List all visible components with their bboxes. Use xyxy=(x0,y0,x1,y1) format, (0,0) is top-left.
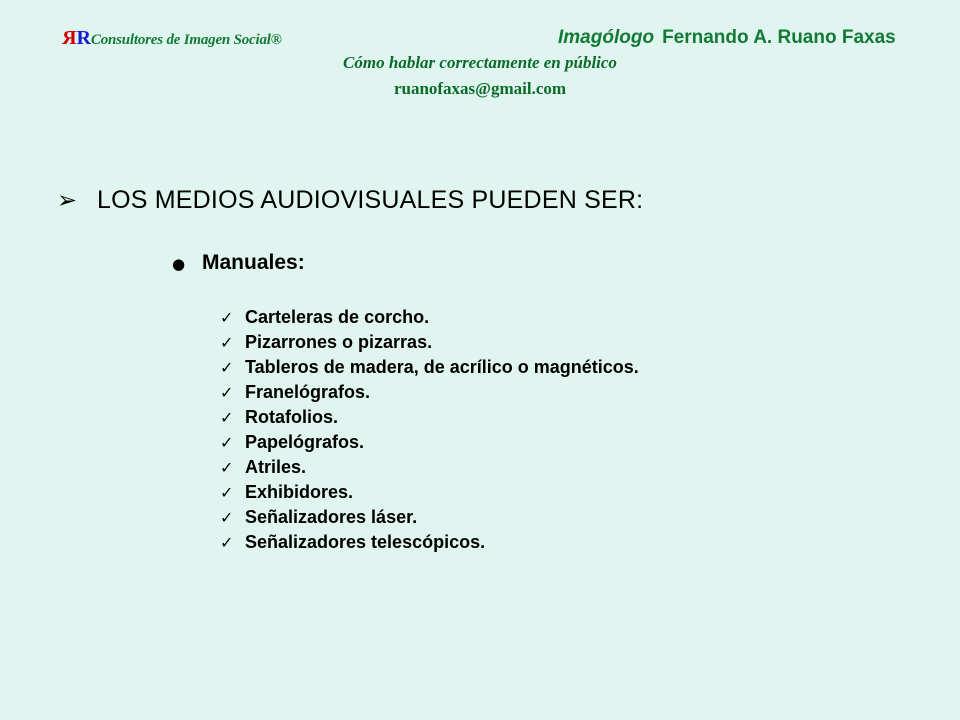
brand-mirrored-r-icon: R xyxy=(62,28,76,48)
check-icon: ✓ xyxy=(220,435,245,451)
list-item: ✓ Pizarrones o pizarras. xyxy=(220,333,639,358)
check-icon: ✓ xyxy=(220,335,245,351)
header-subtitle: Cómo hablar correctamente en público xyxy=(0,54,960,71)
audiovisual-media-list: ✓ Carteleras de corcho. ✓ Pizarrones o p… xyxy=(220,308,639,558)
main-heading-label: LOS MEDIOS AUDIOVISUALES PUEDEN SER: xyxy=(97,188,643,213)
sub-heading: ● Manuales: xyxy=(172,252,305,273)
slide: RRConsultores de Imagen Social® Imagólog… xyxy=(0,0,960,720)
list-item-label: Tableros de madera, de acrílico o magnét… xyxy=(245,358,639,376)
list-item: ✓ Tableros de madera, de acrílico o magn… xyxy=(220,358,639,383)
list-item: ✓ Señalizadores telescópicos. xyxy=(220,533,639,558)
list-item-label: Franelógrafos. xyxy=(245,383,370,401)
round-bullet-icon: ● xyxy=(172,257,202,272)
list-item-label: Carteleras de corcho. xyxy=(245,308,429,326)
list-item-label: Pizarrones o pizarras. xyxy=(245,333,432,351)
arrow-bullet-icon: ➢ xyxy=(57,188,97,212)
header-email: ruanofaxas@gmail.com xyxy=(0,80,960,97)
slide-header: RRConsultores de Imagen Social® Imagólog… xyxy=(0,0,960,110)
list-item: ✓ Exhibidores. xyxy=(220,483,639,508)
check-icon: ✓ xyxy=(220,460,245,476)
list-item: ✓ Papelógrafos. xyxy=(220,433,639,458)
brand-r-icon: R xyxy=(76,28,90,48)
check-icon: ✓ xyxy=(220,410,245,426)
list-item-label: Señalizadores láser. xyxy=(245,508,417,526)
main-heading: ➢ LOS MEDIOS AUDIOVISUALES PUEDEN SER: xyxy=(57,188,643,213)
imagologo-label: Imagólogo xyxy=(558,27,654,48)
list-item-label: Exhibidores. xyxy=(245,483,353,501)
list-item: ✓ Atriles. xyxy=(220,458,639,483)
list-item: ✓ Carteleras de corcho. xyxy=(220,308,639,333)
list-item: ✓ Señalizadores láser. xyxy=(220,508,639,533)
list-item-label: Rotafolios. xyxy=(245,408,338,426)
brand-logo: RRConsultores de Imagen Social® xyxy=(62,28,282,48)
list-item-label: Atriles. xyxy=(245,458,306,476)
sub-heading-label: Manuales: xyxy=(202,252,305,273)
list-item: ✓ Franelógrafos. xyxy=(220,383,639,408)
check-icon: ✓ xyxy=(220,385,245,401)
check-icon: ✓ xyxy=(220,535,245,551)
check-icon: ✓ xyxy=(220,360,245,376)
author-line: ImagólogoFernando A. Ruano Faxas xyxy=(558,28,896,47)
check-icon: ✓ xyxy=(220,310,245,326)
check-icon: ✓ xyxy=(220,510,245,526)
list-item-label: Señalizadores telescópicos. xyxy=(245,533,485,551)
list-item-label: Papelógrafos. xyxy=(245,433,364,451)
brand-name-text: Consultores de Imagen Social® xyxy=(91,32,282,48)
list-item: ✓ Rotafolios. xyxy=(220,408,639,433)
author-name: Fernando A. Ruano Faxas xyxy=(662,27,896,48)
check-icon: ✓ xyxy=(220,485,245,501)
